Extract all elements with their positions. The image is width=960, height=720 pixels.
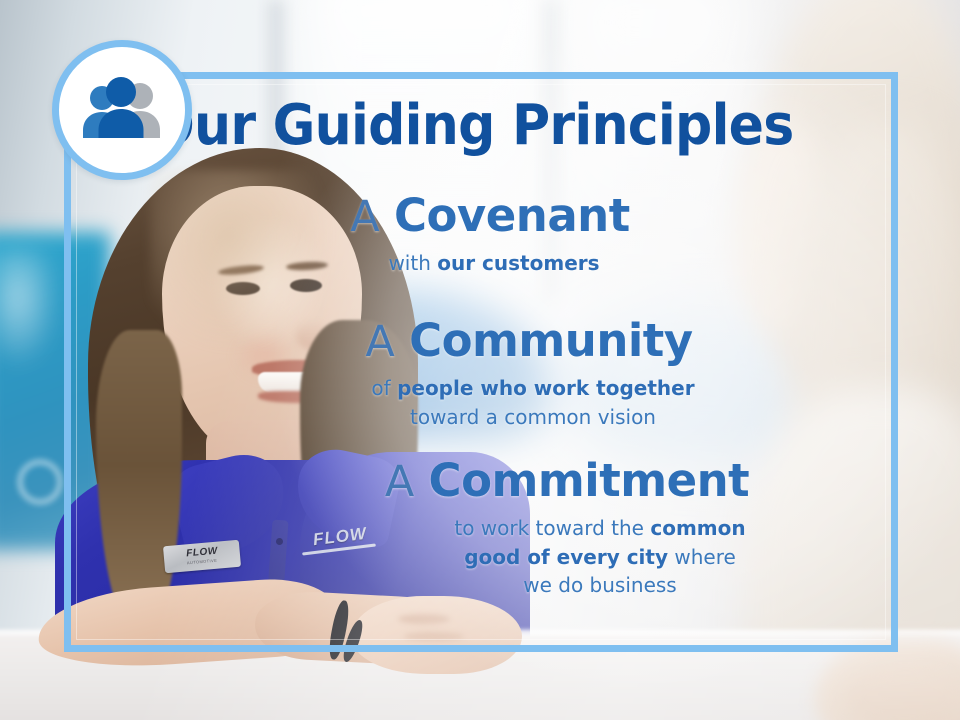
people-group-icon bbox=[76, 77, 168, 143]
guiding-principles-badge bbox=[52, 40, 192, 180]
window-light-right bbox=[560, 0, 750, 270]
employee-shirt-button-top bbox=[276, 538, 283, 545]
display-screen-logo bbox=[18, 460, 62, 504]
employee-knuckle-shadow-upper bbox=[398, 614, 450, 624]
employee-knuckle-shadow-lower bbox=[404, 632, 464, 641]
display-screen-glow bbox=[0, 250, 60, 370]
customer-fingers bbox=[845, 668, 960, 720]
banner-graphic: FLOW AUTOMOTIVE FLOW Our Guiding Princip… bbox=[0, 0, 960, 720]
wall-divider-right bbox=[545, 0, 557, 300]
employee-hair-sheen bbox=[150, 170, 340, 360]
